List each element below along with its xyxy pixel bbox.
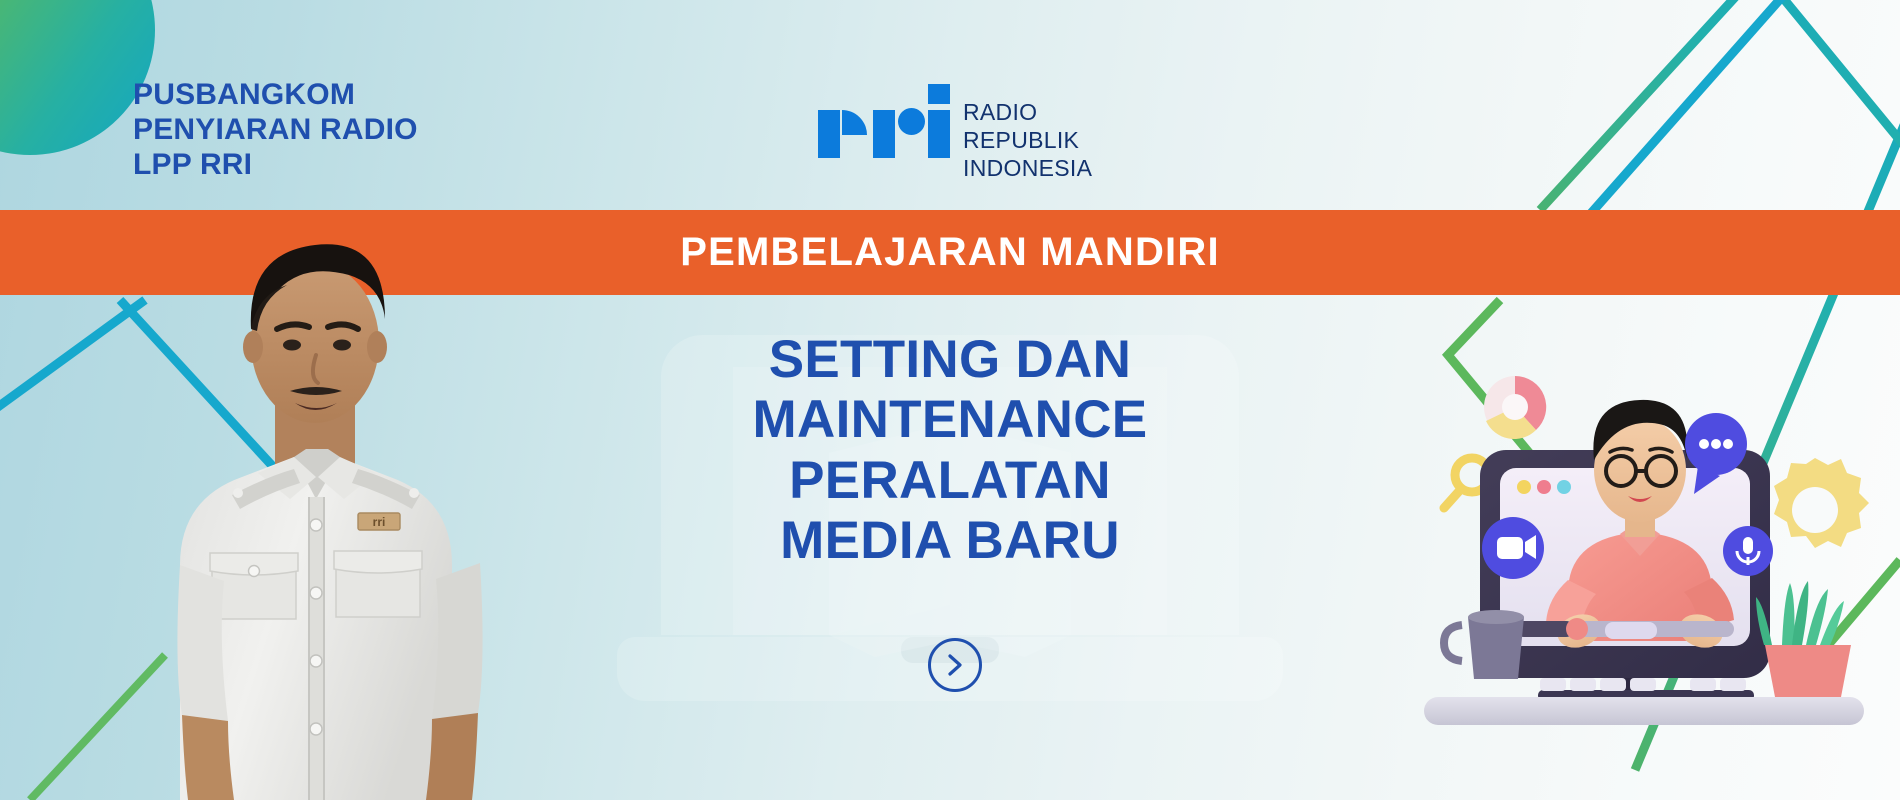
promo-banner: PUSBANGKOM PENYIARAN RADIO LPP RRI RADIO… <box>0 0 1900 800</box>
category-label: PEMBELAJARAN MANDIRI <box>680 230 1220 275</box>
window-dot-red <box>1537 480 1551 494</box>
presenter-photo: rri <box>120 225 540 800</box>
online-learning-illustration <box>1420 345 1890 745</box>
mug-icon <box>1444 610 1524 679</box>
desk-surface <box>1424 697 1864 725</box>
svg-text:rri: rri <box>373 515 386 529</box>
plant-icon <box>1756 581 1851 697</box>
rri-logomark-icon <box>818 86 950 158</box>
corner-gradient-blob <box>0 0 155 155</box>
rri-logo: RADIO REPUBLIK INDONESIA <box>818 86 1092 182</box>
window-dot-blue <box>1557 480 1571 494</box>
donut-chart-icon <box>1484 376 1546 439</box>
next-arrow-button[interactable] <box>928 638 982 692</box>
chevron-right-icon <box>944 653 966 677</box>
organisation-title: PUSBANGKOM PENYIARAN RADIO LPP RRI <box>133 78 418 182</box>
gear-icon <box>1774 458 1869 548</box>
window-dot-yellow <box>1517 480 1531 494</box>
course-title: SETTING DAN MAINTENANCE PERALATAN MEDIA … <box>640 330 1260 572</box>
microphone-icon <box>1723 526 1773 576</box>
video-camera-icon <box>1482 517 1544 579</box>
rri-logo-wordmark: RADIO REPUBLIK INDONESIA <box>963 86 1092 182</box>
